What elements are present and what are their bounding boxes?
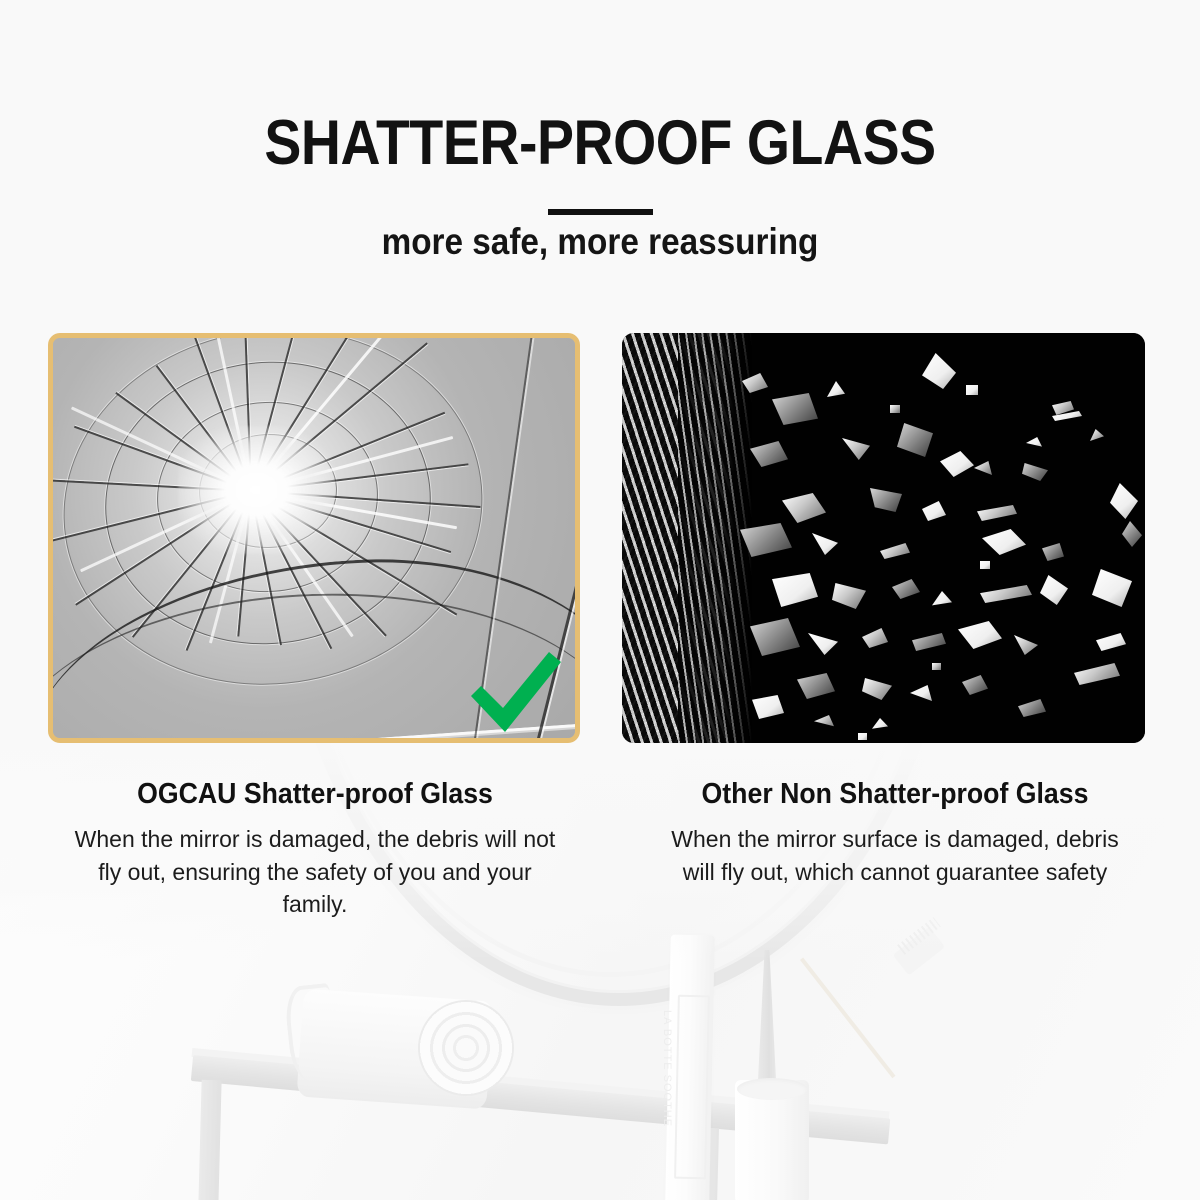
product-infographic: LA BOTTE SOOTHE SHATTER-PROOF GLASS more…	[0, 0, 1200, 1200]
page-title: SHATTER-PROOF GLASS	[72, 112, 1128, 175]
caption-non-shatterproof: Other Non Shatter-proof Glass When the m…	[600, 778, 1190, 888]
caption-heading-right: Other Non Shatter-proof Glass	[624, 778, 1167, 811]
caption-shatterproof: OGCAU Shatter-proof Glass When the mirro…	[20, 778, 610, 921]
impact-point-glow	[178, 426, 335, 554]
comparison-image-shatterproof	[48, 333, 580, 743]
caption-body-right: When the mirror surface is damaged, debr…	[655, 823, 1135, 888]
caption-heading-left: OGCAU Shatter-proof Glass	[44, 778, 587, 811]
title-divider	[548, 209, 653, 215]
comparison-image-non-shatterproof	[622, 333, 1145, 743]
shattered-glass-column-inner	[678, 333, 752, 743]
green-check-icon	[465, 646, 565, 738]
caption-body-left: When the mirror is damaged, the debris w…	[65, 823, 565, 921]
page-subtitle: more safe, more reassuring	[60, 222, 1140, 263]
